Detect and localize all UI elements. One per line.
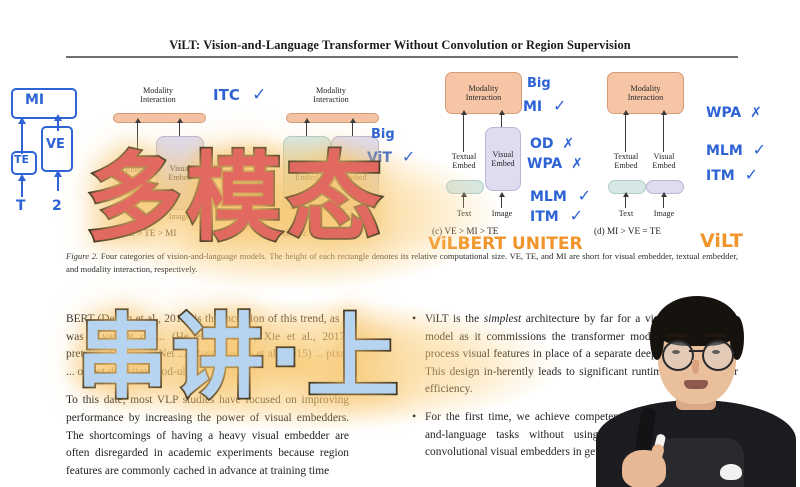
panel-d-arrow-image-in (663, 196, 664, 208)
panel-d-arrow-ve (663, 114, 664, 152)
panel-c-image-input: Image (481, 209, 523, 218)
presenter-eyebrow-left (666, 334, 688, 337)
annotation-itm-d: ITM ✓ (706, 165, 758, 184)
annotation-wpa-c-mark: ✗ (571, 156, 583, 172)
panel-d-arrow-text-in (625, 196, 626, 208)
annotation-mlm-c-text: MLM (530, 189, 567, 205)
panel-c-arrow-text-in (463, 196, 464, 208)
presenter-nose (692, 360, 699, 374)
annotation-od-text: OD (530, 136, 554, 152)
sketch-arrow-image-in (57, 175, 59, 191)
panel-c-visual-embed: VisualEmbed (485, 127, 521, 191)
panel-b-arrow-ve (352, 122, 353, 137)
presenter-glasses-bridge (689, 350, 703, 352)
panel-a-modality-interaction-bar (113, 113, 206, 123)
annotation-itm-c: ITM ✓ (530, 206, 583, 225)
annotation-mlm-c-check: ✓ (578, 186, 591, 205)
panel-a-arrow-ve (179, 122, 180, 137)
presenter-eyebrow-right (704, 334, 726, 337)
paper-running-title: ViLT: Vision-and-Language Transformer Wi… (120, 38, 680, 53)
panel-d-textual-embed-label: TextualEmbed (605, 152, 647, 171)
annotation-itm-d-check: ✓ (745, 165, 758, 184)
sketch-ve-label: VE (46, 137, 65, 152)
annotation-od: OD ✗ (530, 136, 574, 152)
annotation-mlm-d-check: ✓ (753, 140, 766, 159)
annotation-big-mi-check: ✓ (553, 96, 566, 115)
annotation-od-mark: ✗ (562, 136, 574, 152)
annotation-wpa-d: WPA ✗ (706, 105, 762, 121)
annotation-vilt: ViLT (700, 230, 743, 252)
panel-c-arrow-image-in (501, 196, 502, 208)
annotation-wpa-c: WPA ✗ (527, 156, 583, 172)
sketch-arrow-text-in (21, 179, 23, 197)
panel-d-modality-interaction-box: ModalityInteraction (607, 72, 684, 114)
annotation-wpa-c-text: WPA (527, 156, 562, 172)
panel-c-arrow-ve (501, 114, 502, 128)
presenter-hair (654, 296, 740, 346)
annotation-mlm-d: MLM ✓ (706, 140, 766, 159)
presenter-mouth (684, 380, 708, 389)
sketch-te-label: TE (14, 153, 29, 166)
annotation-vilbert-uniter: ViLBERT UNITER (428, 234, 583, 254)
annotation-mlm-d-text: MLM (706, 143, 743, 159)
annotation-mlm-c: MLM ✓ (530, 186, 591, 205)
annotation-itc-check: ✓ (252, 85, 266, 105)
video-frame: ViLT: Vision-and-Language Transformer Wi… (0, 0, 800, 487)
panel-d-text-input: Text (605, 209, 647, 218)
panel-b-modality-interaction-label: ModalityInteraction (285, 86, 377, 105)
sketch-image-input-label: 2 (52, 198, 62, 214)
annotation-itc: ITC ✓ (213, 85, 266, 105)
panel-d-visual-embed-label: VisualEmbed (643, 152, 685, 171)
annotation-big-mi-text: MI (523, 99, 542, 115)
annotation-wpa-d-mark: ✗ (750, 105, 762, 121)
presenter-glasses-right-lens (702, 340, 734, 371)
panel-d-image-input: Image (643, 209, 685, 218)
sketch-text-input-label: T (16, 198, 26, 214)
annotation-itm-c-check: ✓ (570, 206, 583, 225)
annotation-itm-c-text: ITM (530, 209, 559, 225)
annotation-wpa-d-text: WPA (706, 105, 741, 121)
sketch-mi-label: MI (25, 92, 44, 108)
presenter-video-cutout (592, 288, 800, 487)
figure-caption-text: Four categories of vision-and-language m… (66, 251, 738, 274)
panel-d-subcaption: (d) MI > VE = TE (594, 226, 661, 236)
title-divider (66, 56, 738, 58)
panel-c-modality-interaction-box: ModalityInteraction (445, 72, 522, 114)
panel-c-arrow-te (463, 114, 464, 152)
right-bullet-1-pre: ViLT is the (425, 313, 484, 325)
overlay-title-line1: 多模态 (86, 150, 386, 246)
annotation-big-mi-line1: Big (527, 76, 551, 91)
presenter-shirt-logo (720, 464, 742, 480)
panel-c-textual-embed-label: TextualEmbed (443, 152, 485, 171)
annotation-big-mi-line2: MI ✓ (523, 96, 566, 115)
panel-b-modality-interaction-bar (286, 113, 379, 123)
annotation-itm-d-text: ITM (706, 168, 735, 184)
annotation-itc-text: ITC (213, 86, 240, 104)
sketch-arrow-te-to-mi (21, 122, 23, 154)
panel-c-text-input: Text (443, 209, 485, 218)
panel-a-modality-interaction-label: ModalityInteraction (112, 86, 204, 105)
right-bullet-1-emphasis: simplest (484, 313, 521, 325)
annotation-big-vit-line1: Big (371, 127, 395, 142)
panel-d-arrow-te (625, 114, 626, 152)
annotation-big-vit-check: ✓ (402, 147, 415, 166)
panel-b-arrow-te (306, 122, 307, 137)
overlay-title-line2: 串讲·上 (76, 312, 403, 404)
presenter-glasses-left-lens (662, 340, 694, 371)
